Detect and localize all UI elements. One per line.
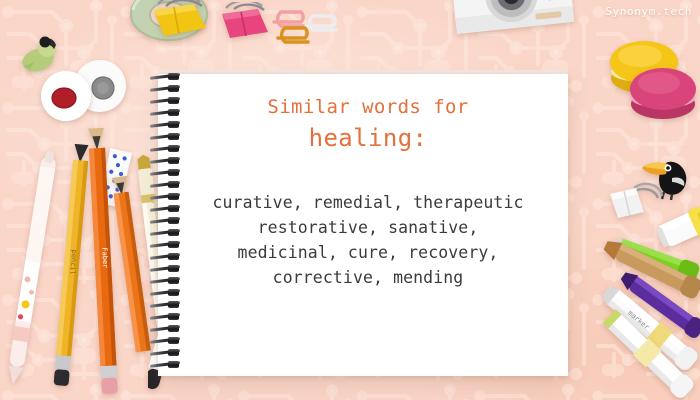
marker-white-2 <box>586 300 700 400</box>
synonym-list: curative, remedial, therapeutic restorat… <box>182 190 554 290</box>
paper-clip-orange <box>272 24 318 46</box>
synonym-line: corrective, mending <box>182 265 554 290</box>
spiral-binding <box>150 72 184 378</box>
binder-clip-yellow <box>148 0 214 42</box>
desk-scene: Synonym.tech <box>0 0 700 400</box>
page-headline: Similar words for <box>182 92 554 122</box>
binder-clip-white <box>606 178 666 222</box>
page-keyword: healing: <box>182 122 554 154</box>
macaron-pink <box>624 62 700 124</box>
synonym-card-text: Similar words for healing: curative, rem… <box>182 92 554 290</box>
camera <box>448 0 578 46</box>
bird-figurine-green <box>20 36 64 72</box>
eraser-red <box>38 68 94 122</box>
synonym-line: medicinal, cure, recovery, <box>182 240 554 265</box>
watermark-logo: Synonym.tech <box>605 5 692 18</box>
synonym-line: restorative, sanative, <box>182 215 554 240</box>
synonym-line: curative, remedial, therapeutic <box>182 190 554 215</box>
